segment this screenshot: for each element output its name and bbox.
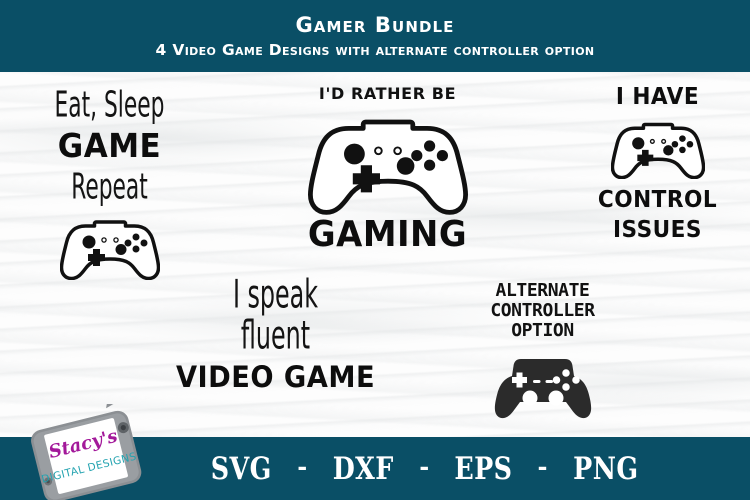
- playstation-controller-solid-icon: [490, 355, 596, 419]
- design-3-line-3: ISSUES: [580, 219, 735, 242]
- alternate-controller-block: ALTERNATE CONTROLLER OPTION: [440, 281, 645, 419]
- brand-logo: Stacy's DIGITAL DESIGNS: [24, 404, 144, 500]
- xbox-controller-outline-icon: [611, 117, 705, 179]
- design-3-controller: [575, 117, 740, 179]
- design-i-speak-fluent-video-game: I speak fluent VIDEO GAME: [168, 278, 383, 392]
- design-4-line-2: fluent: [202, 317, 348, 356]
- product-mockup-image: Gamer Bundle 4 Video Game Designs with a…: [0, 0, 750, 500]
- format-eps: EPS: [454, 451, 512, 487]
- format-dxf: DXF: [333, 451, 394, 487]
- design-4-line-1: I speak: [202, 276, 348, 315]
- alt-line-1: ALTERNATE: [440, 281, 645, 301]
- design-1-controller: [12, 214, 207, 280]
- alt-line-3: OPTION: [440, 321, 645, 341]
- page-title: Gamer Bundle: [295, 14, 454, 36]
- format-svg: SVG: [211, 451, 272, 487]
- tablet-with-stylus-icon: Stacy's DIGITAL DESIGNS: [24, 404, 144, 500]
- design-3-line-1: I HAVE: [580, 86, 735, 109]
- design-1-line-2: GAME: [18, 129, 201, 162]
- format-png: PNG: [573, 451, 638, 487]
- design-i-have-control-issues: I HAVE CONTROL ISSUES: [575, 86, 740, 242]
- design-4-line-3: VIDEO GAME: [174, 363, 376, 392]
- design-1-line-1: Eat, Sleep: [43, 86, 176, 122]
- design-2-controller: [280, 109, 495, 215]
- page-subtitle: 4 Video Game Designs with alternate cont…: [156, 42, 595, 58]
- alt-controller-graphic: [440, 355, 645, 419]
- design-2-line-1: I'D RATHER BE: [280, 84, 495, 103]
- design-eat-sleep-game-repeat: Eat, Sleep GAME Repeat: [12, 88, 207, 280]
- file-formats-list: SVG - DXF - EPS - PNG: [190, 437, 660, 500]
- xbox-controller-outline-icon: [308, 109, 468, 215]
- design-id-rather-be-gaming: I'D RATHER BE GAMING: [280, 84, 495, 253]
- design-3-line-2: CONTROL: [580, 189, 735, 212]
- format-separator-1: -: [297, 452, 307, 481]
- format-separator-2: -: [419, 452, 429, 481]
- header-banner: Gamer Bundle 4 Video Game Designs with a…: [0, 0, 750, 72]
- format-separator-3: -: [538, 452, 548, 481]
- alt-line-2: CONTROLLER: [440, 301, 645, 321]
- design-1-line-3: Repeat: [43, 168, 176, 204]
- design-2-line-2: GAMING: [286, 217, 488, 253]
- xbox-controller-outline-icon: [60, 214, 160, 280]
